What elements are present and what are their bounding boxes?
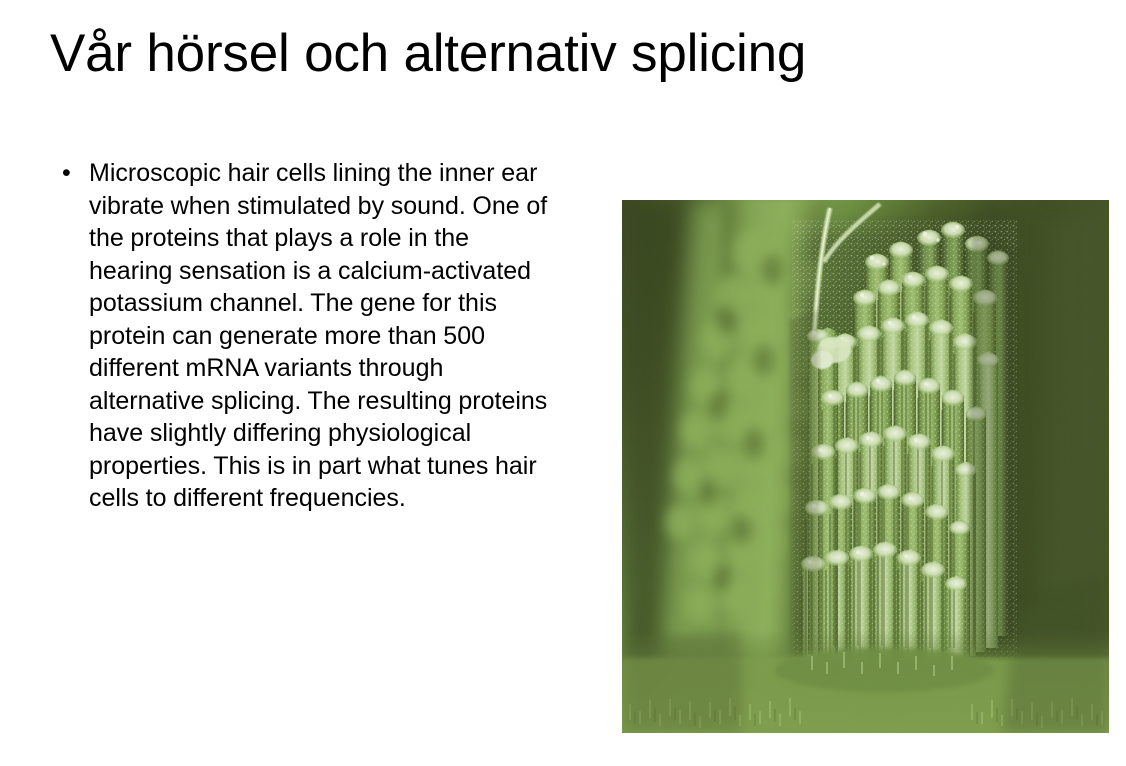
page-title: Vår hörsel och alternativ splicing bbox=[50, 22, 1070, 86]
hair-cell-stereocilia-micrograph bbox=[622, 200, 1109, 733]
micrograph-graphic bbox=[622, 200, 1109, 733]
bullet-text: Microscopic hair cells lining the inner … bbox=[89, 157, 556, 515]
body-text-block: • Microscopic hair cells lining the inne… bbox=[56, 157, 556, 515]
bullet-icon: • bbox=[56, 157, 89, 190]
slide-canvas: Vår hörsel och alternativ splicing • Mic… bbox=[0, 0, 1126, 766]
list-item: • Microscopic hair cells lining the inne… bbox=[56, 157, 556, 515]
